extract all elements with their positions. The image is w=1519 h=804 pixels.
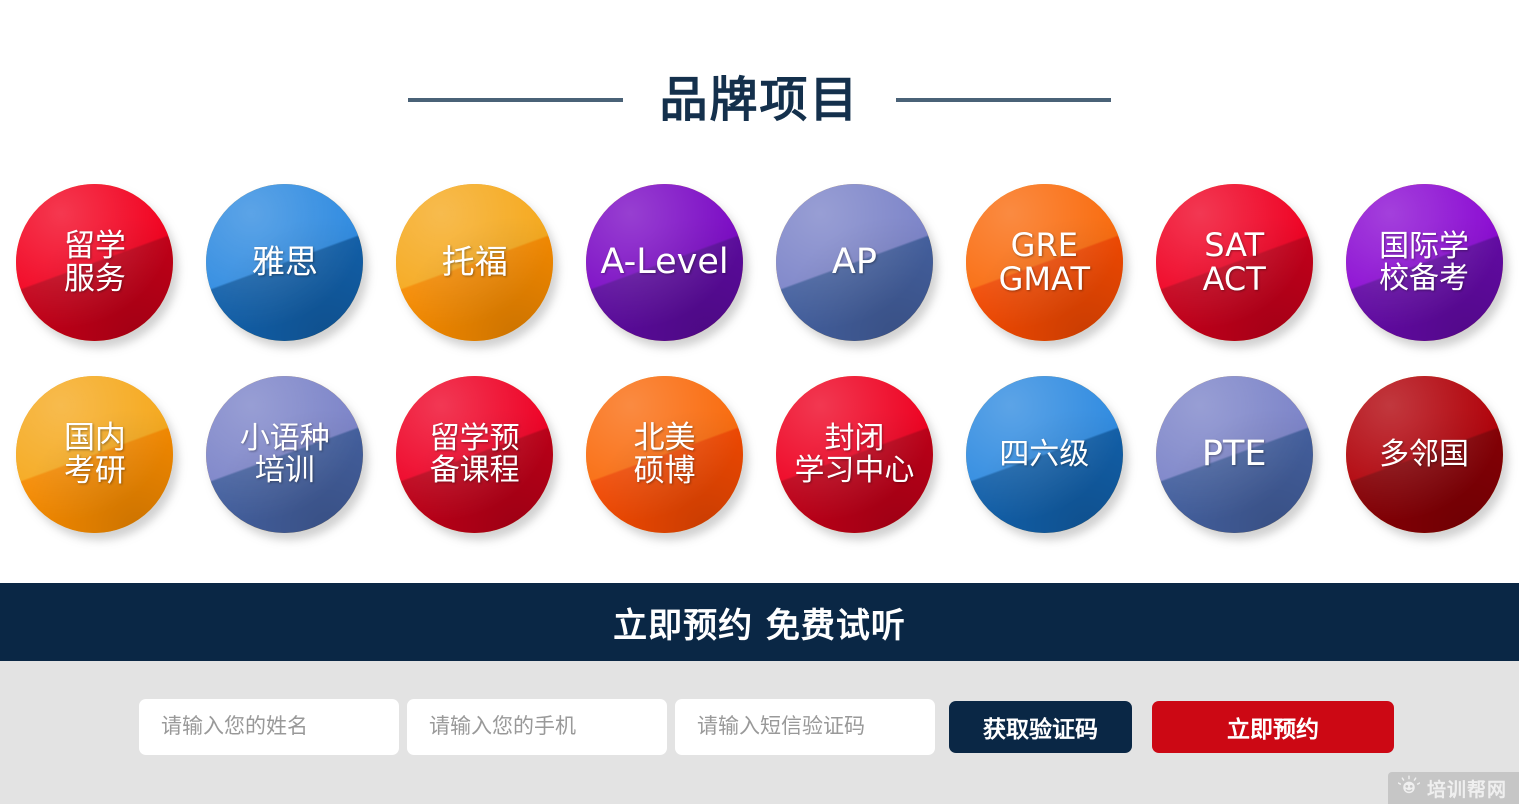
program-circle-label: AP: [832, 244, 877, 281]
program-circle-cell: 封闭学习中心: [760, 374, 950, 566]
program-circle-row: 留学服务雅思托福A-LevelAPGREGMATSATACT国际学校备考: [0, 182, 1519, 374]
program-circle-cell: 国内考研: [0, 374, 190, 566]
program-circle-gre-gmat[interactable]: GREGMAT: [966, 184, 1123, 341]
program-circle-cell: 多邻国: [1329, 374, 1519, 566]
program-label-line: 多邻国: [1379, 439, 1469, 471]
program-label-line: AP: [832, 244, 877, 281]
program-circle-label: 雅思: [252, 245, 318, 280]
program-circle-label: 留学预备课程: [430, 423, 520, 487]
program-label-line: 服务: [64, 263, 126, 296]
program-circle-duolingo[interactable]: 多邻国: [1346, 376, 1503, 533]
program-label-line: 校备考: [1379, 263, 1469, 295]
program-circle-label: A-Level: [600, 244, 728, 281]
program-circle-grid: 留学服务雅思托福A-LevelAPGREGMATSATACT国际学校备考国内考研…: [0, 182, 1519, 566]
program-circle-cell: 国际学校备考: [1329, 182, 1519, 374]
program-circle-pte[interactable]: PTE: [1156, 376, 1313, 533]
program-circle-cell: AP: [760, 182, 950, 374]
program-circle-cell: GREGMAT: [949, 182, 1139, 374]
program-label-line: 国际学: [1379, 231, 1469, 263]
program-circle-label: 国内考研: [64, 422, 126, 488]
program-circle-label: PTE: [1202, 436, 1267, 473]
program-circle-label: 留学服务: [64, 230, 126, 296]
page-title: 品牌项目: [659, 76, 859, 124]
section-heading: 品牌项目: [0, 64, 1519, 136]
heading-rule-left: [408, 98, 623, 102]
program-circle-cell: 留学预备课程: [380, 374, 570, 566]
program-circle-north-america-master-phd[interactable]: 北美硕博: [586, 376, 743, 533]
program-circle-label: 四六级: [999, 439, 1089, 471]
program-circle-label: 国际学校备考: [1379, 231, 1469, 295]
booking-form: 获取验证码 立即预约: [139, 699, 1394, 755]
program-label-line: 小语种: [240, 423, 330, 455]
program-circle-label: SATACT: [1203, 229, 1266, 297]
program-label-line: GRE: [999, 229, 1090, 263]
name-input[interactable]: [139, 699, 399, 755]
program-circle-cet-4-6[interactable]: 四六级: [966, 376, 1123, 533]
program-circle-minor-language-training[interactable]: 小语种培训: [206, 376, 363, 533]
phone-input[interactable]: [407, 699, 667, 755]
get-sms-code-button[interactable]: 获取验证码: [949, 701, 1132, 753]
program-label-line: SAT: [1203, 229, 1266, 263]
site-watermark: 培训帮网: [1388, 772, 1519, 804]
program-label-line: 备课程: [430, 455, 520, 487]
program-circle-domestic-postgrad-exam[interactable]: 国内考研: [16, 376, 173, 533]
program-label-line: 国内: [64, 422, 126, 455]
program-label-line: 北美: [634, 422, 696, 455]
program-circle-closed-study-center[interactable]: 封闭学习中心: [776, 376, 933, 533]
program-circle-ap[interactable]: AP: [776, 184, 933, 341]
heading-rule-right: [896, 98, 1111, 102]
program-circle-international-school-prep[interactable]: 国际学校备考: [1346, 184, 1503, 341]
program-label-line: 硕博: [634, 455, 696, 488]
program-label-line: 培训: [240, 455, 330, 487]
watermark-label: 培训帮网: [1427, 775, 1507, 802]
sms-code-input[interactable]: [675, 699, 935, 755]
program-circle-row: 国内考研小语种培训留学预备课程北美硕博封闭学习中心四六级PTE多邻国: [0, 374, 1519, 566]
program-label-line: 雅思: [252, 245, 318, 280]
program-label-line: 学习中心: [794, 455, 914, 487]
program-circle-a-level[interactable]: A-Level: [586, 184, 743, 341]
program-circle-label: 北美硕博: [634, 422, 696, 488]
sun-face-icon: [1398, 775, 1420, 802]
program-label-line: GMAT: [999, 263, 1090, 297]
program-label-line: PTE: [1202, 436, 1267, 473]
program-label-line: 四六级: [999, 439, 1089, 471]
program-label-line: 留学预: [430, 423, 520, 455]
program-circle-ielts[interactable]: 雅思: [206, 184, 363, 341]
program-label-line: ACT: [1203, 263, 1266, 297]
cta-banner-text: 立即预约 免费试听: [613, 598, 906, 647]
cta-banner: 立即预约 免费试听: [0, 583, 1519, 661]
program-circle-cell: A-Level: [570, 182, 760, 374]
program-circle-cell: 托福: [380, 182, 570, 374]
program-circle-label: 封闭学习中心: [794, 423, 914, 487]
program-circle-cell: PTE: [1139, 374, 1329, 566]
program-circle-cell: 雅思: [190, 182, 380, 374]
program-label-line: A-Level: [600, 244, 728, 281]
program-circle-label: 多邻国: [1379, 439, 1469, 471]
booking-form-strip: 获取验证码 立即预约: [0, 661, 1519, 804]
program-circle-label: 托福: [442, 245, 508, 280]
program-circle-cell: 四六级: [949, 374, 1139, 566]
program-label-line: 留学: [64, 230, 126, 263]
program-label-line: 封闭: [794, 423, 914, 455]
program-circle-cell: 小语种培训: [190, 374, 380, 566]
submit-booking-button[interactable]: 立即预约: [1152, 701, 1394, 753]
program-circle-sat-act[interactable]: SATACT: [1156, 184, 1313, 341]
program-circle-cell: SATACT: [1139, 182, 1329, 374]
program-circle-study-abroad-service[interactable]: 留学服务: [16, 184, 173, 341]
program-circle-cell: 北美硕博: [570, 374, 760, 566]
program-circle-label: 小语种培训: [240, 423, 330, 487]
program-label-line: 考研: [64, 455, 126, 488]
program-circle-study-abroad-prep-course[interactable]: 留学预备课程: [396, 376, 553, 533]
program-label-line: 托福: [442, 245, 508, 280]
program-circle-toefl[interactable]: 托福: [396, 184, 553, 341]
program-circle-cell: 留学服务: [0, 182, 190, 374]
program-circle-label: GREGMAT: [999, 229, 1090, 297]
